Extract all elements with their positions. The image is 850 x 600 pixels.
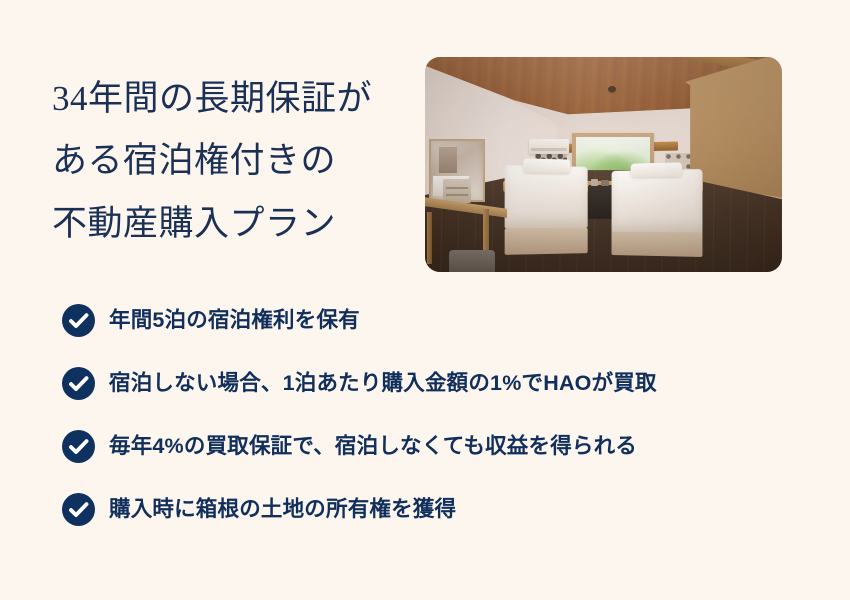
nightstand [588, 185, 613, 219]
page-title-line-2: ある宿泊権付きの [52, 130, 424, 192]
promo-slide: 34年間の長期保証が ある宿泊権付きの 不動産購入プラン [0, 0, 850, 600]
check-circle-icon [62, 493, 95, 526]
check-circle-icon [62, 304, 95, 337]
ceiling-light-icon [608, 86, 616, 92]
feature-list: 年間5泊の宿泊権利を保有 宿泊しない場合、1泊あたり購入金額の1%でHAOが買取… [62, 303, 822, 527]
room-photo [425, 57, 782, 272]
list-item: 毎年4%の買取保証で、宿泊しなくても収益を得られる [62, 429, 822, 464]
page-title-line-1: 34年間の長期保証が [52, 68, 424, 130]
list-item-label: 毎年4%の買取保証で、宿泊しなくても収益を得られる [109, 434, 637, 460]
air-conditioner [529, 139, 569, 154]
check-circle-icon [62, 367, 95, 400]
desk-chair [449, 250, 495, 272]
bed-duvet [612, 169, 703, 232]
page-title: 34年間の長期保証が ある宿泊権付きの 不動産購入プラン [52, 68, 424, 255]
desk-leg [427, 212, 432, 264]
bed-left [505, 165, 588, 255]
bed-right [612, 169, 703, 257]
bed-pillow [631, 162, 682, 177]
list-item: 宿泊しない場合、1泊あたり購入金額の1%でHAOが買取 [62, 366, 822, 401]
bed-base [505, 228, 588, 255]
list-item: 年間5泊の宿泊権利を保有 [62, 303, 822, 338]
list-item-label: 宿泊しない場合、1泊あたり購入金額の1%でHAOが買取 [109, 371, 657, 397]
room-photo-illustration [425, 57, 782, 272]
bed-base [612, 230, 703, 257]
bed-pillow [523, 158, 569, 173]
page-title-line-3: 不動産購入プラン [52, 193, 424, 255]
check-circle-icon [62, 430, 95, 463]
list-item: 購入時に箱根の土地の所有権を獲得 [62, 492, 822, 527]
bed-duvet [505, 165, 588, 228]
list-item-label: 購入時に箱根の土地の所有権を獲得 [109, 497, 456, 523]
list-item-label: 年間5泊の宿泊権利を保有 [109, 308, 360, 334]
